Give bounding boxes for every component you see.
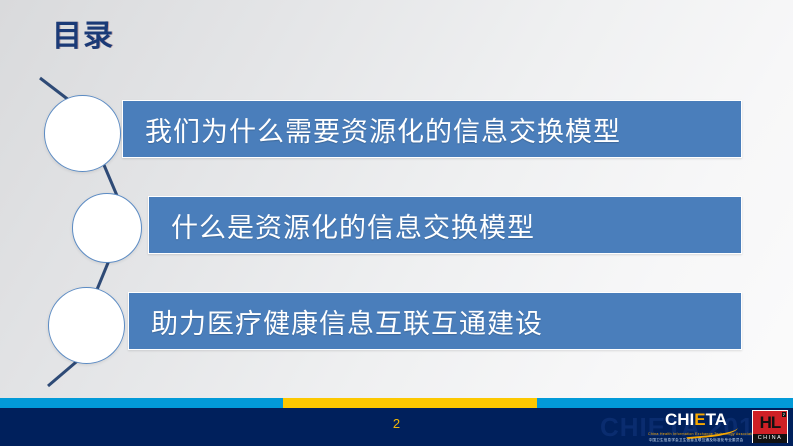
agenda-item-3-bar[interactable]: 助力医疗健康信息互联互通建设 [128, 292, 742, 350]
chieta-logo-subtitle-cn: 中国卫生信息学会卫生信息互联互通及标准化专业委员会 [648, 439, 744, 443]
agenda-bullet-circle-3 [48, 287, 125, 364]
hl7-logo-mark: HL7 [753, 411, 787, 434]
agenda-item-1-bar[interactable]: 我们为什么需要资源化的信息交换模型 [122, 100, 742, 158]
agenda-bullet-circle-1 [44, 95, 121, 172]
agenda-item-1-label: 我们为什么需要资源化的信息交换模型 [123, 110, 621, 149]
stripe-segment-cyan-right [537, 398, 793, 408]
hl7-logo-badge: 7 [782, 412, 786, 417]
presentation-slide: 目录 我们为什么需要资源化的信息交换模型 什么是资源化的信息交换模型 助力医疗健… [0, 0, 793, 446]
connector-line-2-3 [96, 258, 110, 292]
hl7-china-logo: HL7 CHINA [752, 410, 788, 443]
hl7-logo-country: CHINA [753, 434, 787, 443]
stripe-segment-yellow [283, 398, 537, 408]
footer-color-stripe [0, 398, 793, 408]
stripe-segment-cyan-left [0, 398, 283, 408]
agenda-bullet-circle-2 [72, 193, 142, 263]
chieta-logo: CHIETA China Health Information Exchange… [648, 409, 744, 444]
agenda-item-2-label: 什么是资源化的信息交换模型 [149, 206, 535, 245]
agenda-item-2-bar[interactable]: 什么是资源化的信息交换模型 [148, 196, 742, 254]
agenda-item-3-label: 助力医疗健康信息互联互通建设 [129, 302, 543, 341]
